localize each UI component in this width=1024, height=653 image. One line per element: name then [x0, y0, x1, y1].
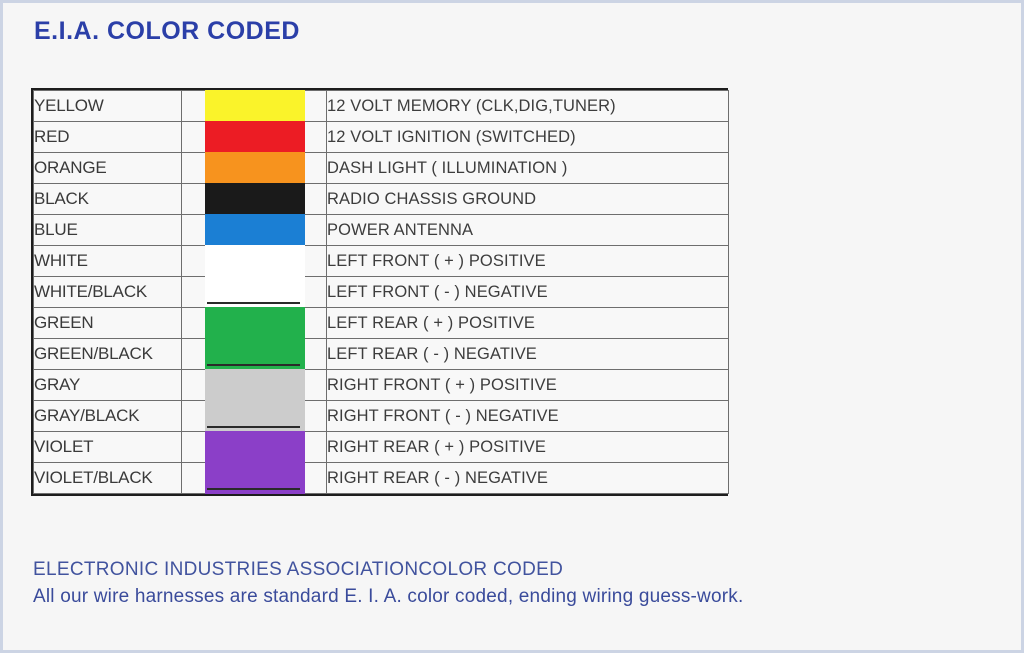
wire-color-name-cell: BLUE: [34, 215, 182, 246]
wire-color-name-cell: ORANGE: [34, 153, 182, 184]
wire-color-swatch-cell: [182, 184, 327, 215]
table-row: GREEN/BLACKLEFT REAR ( - ) NEGATIVE: [34, 339, 729, 370]
wire-color-name-cell: WHITE/BLACK: [34, 277, 182, 308]
color-swatch: [205, 462, 305, 494]
color-swatch-fill: [205, 152, 305, 184]
color-swatch: [205, 183, 305, 215]
color-swatch: [205, 152, 305, 184]
wire-color-name-cell: GRAY: [34, 370, 182, 401]
wire-color-swatch-cell: [182, 463, 327, 494]
table-row: VIOLETRIGHT REAR ( + ) POSITIVE: [34, 432, 729, 463]
wire-color-table-container: YELLOW12 VOLT MEMORY (CLK,DIG,TUNER)RED1…: [31, 88, 728, 496]
wire-color-swatch-cell: [182, 277, 327, 308]
wire-color-swatch-cell: [182, 153, 327, 184]
wire-color-swatch-cell: [182, 91, 327, 122]
wire-function-description-cell: 12 VOLT IGNITION (SWITCHED): [327, 122, 729, 153]
eia-color-code-chart-page: E.I.A. COLOR CODED YELLOW12 VOLT MEMORY …: [0, 0, 1024, 653]
wire-function-description-cell: POWER ANTENNA: [327, 215, 729, 246]
wire-function-description-cell: RIGHT FRONT ( + ) POSITIVE: [327, 370, 729, 401]
black-tracer-stripe: [207, 426, 300, 428]
wire-color-swatch-cell: [182, 432, 327, 463]
black-tracer-stripe: [207, 302, 300, 304]
wire-color-swatch-cell: [182, 215, 327, 246]
color-swatch-fill: [205, 183, 305, 215]
table-row: GRAYRIGHT FRONT ( + ) POSITIVE: [34, 370, 729, 401]
wire-function-description-cell: LEFT FRONT ( + ) POSITIVE: [327, 246, 729, 277]
table-row: WHITE/BLACKLEFT FRONT ( - ) NEGATIVE: [34, 277, 729, 308]
color-swatch: [205, 307, 305, 339]
wire-color-swatch-cell: [182, 370, 327, 401]
wire-color-name-cell: GREEN/BLACK: [34, 339, 182, 370]
wire-function-description-cell: LEFT REAR ( - ) NEGATIVE: [327, 339, 729, 370]
wire-function-description-cell: LEFT FRONT ( - ) NEGATIVE: [327, 277, 729, 308]
page-content-area: E.I.A. COLOR CODED YELLOW12 VOLT MEMORY …: [3, 3, 1021, 650]
table-row: YELLOW12 VOLT MEMORY (CLK,DIG,TUNER): [34, 91, 729, 122]
wire-color-table-body: YELLOW12 VOLT MEMORY (CLK,DIG,TUNER)RED1…: [34, 91, 729, 494]
color-swatch-fill: [205, 121, 305, 153]
page-title: E.I.A. COLOR CODED: [34, 17, 300, 46]
footer-description-line: All our wire harnesses are standard E. I…: [33, 586, 743, 608]
wire-color-swatch-cell: [182, 339, 327, 370]
black-tracer-stripe: [207, 364, 300, 366]
wire-color-swatch-cell: [182, 122, 327, 153]
color-swatch-fill: [205, 245, 305, 277]
color-swatch: [205, 214, 305, 246]
wire-color-swatch-cell: [182, 308, 327, 339]
color-swatch-fill: [205, 90, 305, 122]
color-swatch: [205, 338, 305, 370]
color-swatch: [205, 431, 305, 463]
table-row: RED12 VOLT IGNITION (SWITCHED): [34, 122, 729, 153]
color-swatch-fill: [205, 214, 305, 246]
wire-function-description-cell: RIGHT REAR ( - ) NEGATIVE: [327, 463, 729, 494]
wire-color-table: YELLOW12 VOLT MEMORY (CLK,DIG,TUNER)RED1…: [33, 90, 729, 494]
wire-function-description-cell: 12 VOLT MEMORY (CLK,DIG,TUNER): [327, 91, 729, 122]
color-swatch: [205, 276, 305, 308]
wire-color-name-cell: GRAY/BLACK: [34, 401, 182, 432]
table-row: GREENLEFT REAR ( + ) POSITIVE: [34, 308, 729, 339]
table-row: BLUEPOWER ANTENNA: [34, 215, 729, 246]
color-swatch: [205, 400, 305, 432]
table-row: WHITELEFT FRONT ( + ) POSITIVE: [34, 246, 729, 277]
color-swatch: [205, 121, 305, 153]
wire-color-name-cell: WHITE: [34, 246, 182, 277]
color-swatch: [205, 369, 305, 401]
color-swatch-fill: [205, 307, 305, 339]
color-swatch: [205, 90, 305, 122]
wire-function-description-cell: RIGHT REAR ( + ) POSITIVE: [327, 432, 729, 463]
wire-color-name-cell: VIOLET: [34, 432, 182, 463]
wire-color-name-cell: BLACK: [34, 184, 182, 215]
wire-function-description-cell: DASH LIGHT ( ILLUMINATION ): [327, 153, 729, 184]
wire-function-description-cell: LEFT REAR ( + ) POSITIVE: [327, 308, 729, 339]
footer: ELECTRONIC INDUSTRIES ASSOCIATIONCOLOR C…: [33, 559, 743, 608]
table-row: BLACKRADIO CHASSIS GROUND: [34, 184, 729, 215]
table-row: ORANGEDASH LIGHT ( ILLUMINATION ): [34, 153, 729, 184]
black-tracer-stripe: [207, 488, 300, 490]
wire-color-swatch-cell: [182, 401, 327, 432]
color-swatch-fill: [205, 431, 305, 463]
wire-color-swatch-cell: [182, 246, 327, 277]
wire-color-name-cell: VIOLET/BLACK: [34, 463, 182, 494]
wire-function-description-cell: RIGHT FRONT ( - ) NEGATIVE: [327, 401, 729, 432]
wire-color-name-cell: RED: [34, 122, 182, 153]
color-swatch: [205, 245, 305, 277]
table-row: GRAY/BLACKRIGHT FRONT ( - ) NEGATIVE: [34, 401, 729, 432]
wire-color-name-cell: YELLOW: [34, 91, 182, 122]
wire-color-name-cell: GREEN: [34, 308, 182, 339]
wire-function-description-cell: RADIO CHASSIS GROUND: [327, 184, 729, 215]
footer-association-line: ELECTRONIC INDUSTRIES ASSOCIATIONCOLOR C…: [33, 559, 743, 581]
color-swatch-fill: [205, 369, 305, 401]
table-row: VIOLET/BLACKRIGHT REAR ( - ) NEGATIVE: [34, 463, 729, 494]
